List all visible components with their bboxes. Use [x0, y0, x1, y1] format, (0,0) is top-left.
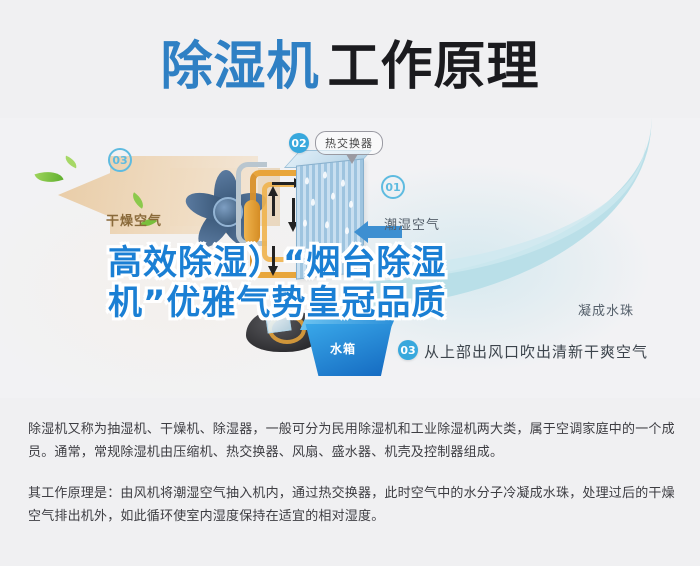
- heat-exchanger-callout: 热交换器: [315, 131, 383, 155]
- flow-arrow-down-icon: [268, 266, 278, 276]
- step-number-02: 02: [289, 133, 309, 153]
- ice-cube-icon: [264, 306, 291, 333]
- refrigerant-cylinder-icon: [244, 200, 260, 244]
- bottom-note-label: 从上部出风口吹出清新干爽空气: [424, 341, 648, 362]
- dehumidifier-diagram: 干燥空气 03: [0, 118, 700, 398]
- dry-air-label: 干燥空气: [106, 210, 162, 229]
- water-tank-label: 水箱: [330, 340, 356, 357]
- flow-arrow-stem: [272, 246, 275, 266]
- flow-arrow-stem: [272, 194, 275, 216]
- description-block: 除湿机又称为抽湿机、干燥机、除湿器，一般可分为民用除湿机和工业除湿机两大类，属于…: [28, 418, 676, 528]
- step-number-01: 01: [381, 175, 405, 199]
- condensation-drops-group: [297, 160, 363, 279]
- flow-arrow-stem: [272, 182, 294, 185]
- flow-arrow-stem: [292, 198, 295, 222]
- page-title: 除湿机工作原理: [0, 24, 700, 99]
- heat-exchanger-icon: [296, 158, 364, 279]
- flow-arrow-up-icon: [268, 186, 278, 196]
- title-rest-text: 工作原理: [328, 37, 540, 97]
- step-number-03-left: 03: [108, 148, 132, 172]
- title-brand-text: 除湿机: [160, 37, 319, 97]
- description-paragraph-2: 其工作原理是：由风机将潮湿空气抽入机内，通过热交换器，此时空气中的水分子冷凝成水…: [28, 482, 676, 528]
- step-number-03-bottom: 03: [398, 340, 418, 360]
- description-paragraph-1: 除湿机又称为抽湿机、干燥机、除湿器，一般可分为民用除湿机和工业除湿机两大类，属于…: [28, 418, 676, 464]
- condense-label: 凝成水珠: [578, 300, 634, 319]
- humid-air-label: 潮湿空气: [384, 214, 440, 233]
- infographic-page: 除湿机工作原理 干燥空气 03: [0, 0, 700, 566]
